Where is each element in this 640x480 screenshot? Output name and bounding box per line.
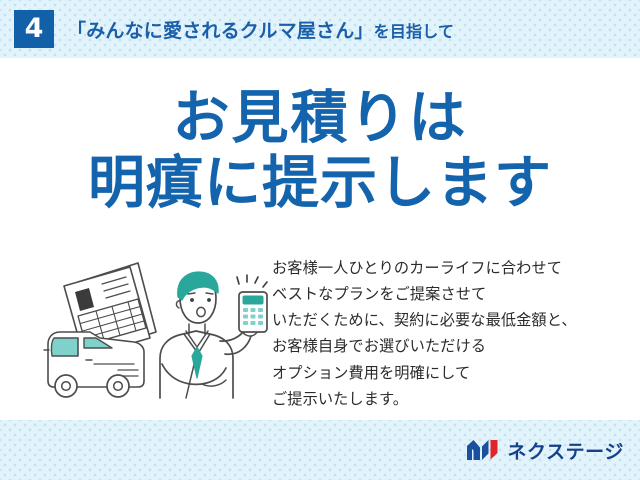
brand-logo: ネクステージ <box>466 437 624 464</box>
calculator-illustration <box>239 292 267 332</box>
body-copy-line: お客様一人ひとりのカーライフに合わせて <box>272 255 632 281</box>
sparkle-accent <box>237 275 267 287</box>
header-title-suffix: を目指して <box>374 18 455 42</box>
nextage-n-logo-icon <box>466 439 500 461</box>
body-copy-line: お客様自身でお選びいただける <box>272 333 632 359</box>
body-copy-line: オプション費用を明確にして <box>272 360 632 386</box>
header-band: 4 「みんなに愛されるクルマ屋さん」 を目指して <box>0 0 640 58</box>
section-number-badge: 4 <box>14 10 54 48</box>
body-copy: お客様一人ひとりのカーライフに合わせて ベストなプランをご提案させて いただくた… <box>272 255 632 412</box>
main-content-stage: お見積りは 明瘨に提示します お客様一人ひとりのカーライフに合わせて ベストなプ… <box>0 58 640 420</box>
header-title: 「みんなに愛されるクルマ屋さん」 を目指して <box>67 16 454 43</box>
body-copy-line: いただくために、契約に必要な最低金額と、 <box>272 307 632 333</box>
illustration-salesman-estimate-van <box>34 246 274 416</box>
van-illustration <box>44 332 144 397</box>
body-copy-line: ご提示いたします。 <box>272 386 632 412</box>
headline-line-1: お見積りは <box>0 86 640 151</box>
brand-logo-text: ネクステージ <box>507 437 624 464</box>
salesman-figure <box>160 272 258 398</box>
header-title-main: 「みんなに愛されるクルマ屋さん」 <box>67 16 374 43</box>
body-copy-line: ベストなプランをご提案させて <box>272 281 632 307</box>
footer-band: ネクステージ <box>0 420 640 480</box>
headline-line-2: 明瘨に提示します <box>0 151 640 216</box>
headline: お見積りは 明瘨に提示します <box>0 86 640 216</box>
